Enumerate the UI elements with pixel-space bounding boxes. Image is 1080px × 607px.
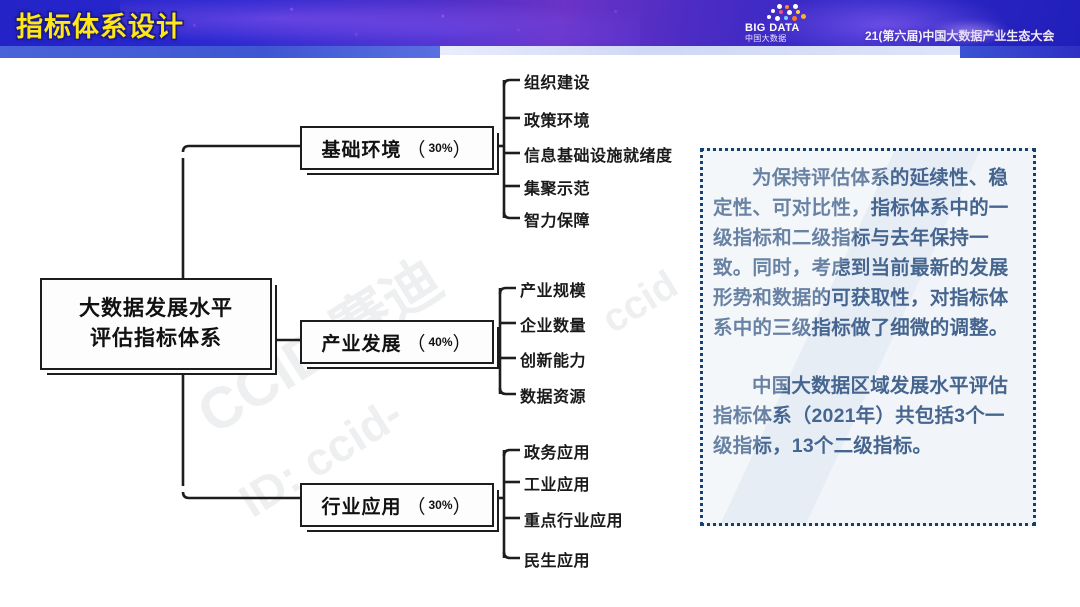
- leaf-item[interactable]: 组织建设: [524, 69, 590, 93]
- leaf-item[interactable]: 工业应用: [524, 471, 590, 495]
- node-branch-weight-2: 40%: [428, 335, 452, 349]
- leaf-item[interactable]: 信息基础设施就绪度: [524, 142, 673, 166]
- leaf-item[interactable]: 政务应用: [524, 439, 590, 463]
- node-branch-weight-3: 30%: [428, 498, 452, 512]
- banner-underbar-right: [960, 46, 1080, 58]
- event-text-glare: [930, 20, 1010, 44]
- leaf-item[interactable]: 企业数量: [520, 312, 586, 336]
- node-branch-paren-close-2: ）: [453, 329, 473, 356]
- node-branch-label-3: 行业应用: [321, 492, 401, 519]
- leaf-item[interactable]: 产业规模: [520, 277, 586, 301]
- logo-subtitle: 中国大数据: [745, 35, 787, 43]
- node-root-line2: 评估指标体系: [90, 324, 222, 354]
- leaf-item[interactable]: 智力保障: [524, 207, 590, 231]
- node-branch-label-2: 产业发展: [321, 329, 401, 356]
- big-data-logo: BIG DATA 中国大数据: [745, 4, 813, 44]
- leaf-item[interactable]: 集聚示范: [524, 175, 590, 199]
- leaf-item[interactable]: 民生应用: [524, 547, 590, 571]
- node-branch-paren-open-1: （: [406, 135, 426, 162]
- node-branch-industry-application[interactable]: 行业应用 （30%）: [300, 483, 494, 527]
- leaf-item[interactable]: 数据资源: [520, 383, 586, 407]
- node-branch-label-1: 基础环境: [321, 135, 401, 162]
- banner-underbar-middle: [440, 46, 960, 55]
- leaf-item[interactable]: 创新能力: [520, 347, 586, 371]
- banner-sparkle-decoration: [120, 0, 640, 46]
- node-root[interactable]: 大数据发展水平 评估指标体系: [40, 278, 272, 370]
- indicator-tree-diagram: 大数据发展水平 评估指标体系 基础环境 （30%） 产业发展 （40%） 行业应…: [0, 58, 700, 607]
- banner-underbar-left: [0, 46, 440, 58]
- title-banner: 指标体系设计 BIG DATA 中国大数据 21(第六届)中国大数据产业生态大会: [0, 0, 1080, 46]
- leaf-item[interactable]: 重点行业应用: [524, 507, 623, 531]
- page-title: 指标体系设计: [16, 5, 184, 44]
- logo-name: BIG DATA: [745, 23, 800, 34]
- node-branch-paren-close-1: ）: [453, 135, 473, 162]
- logo-dots-icon: [757, 4, 811, 24]
- node-branch-paren-close-3: ）: [453, 492, 473, 519]
- explanation-panel: 为保持评估体系的延续性、稳定性、可对比性，指标体系中的一级指标和二级指标与去年保…: [700, 148, 1036, 526]
- node-branch-paren-open-2: （: [406, 329, 426, 356]
- leaf-item[interactable]: 政策环境: [524, 107, 590, 131]
- panel-paragraph-1: 为保持评估体系的延续性、稳定性、可对比性，指标体系中的一级指标和二级指标与去年保…: [713, 163, 1023, 343]
- node-branch-weight-1: 30%: [428, 141, 452, 155]
- node-branch-industry-development[interactable]: 产业发展 （40%）: [300, 320, 494, 364]
- node-branch-basic-environment[interactable]: 基础环境 （30%）: [300, 126, 494, 170]
- panel-paragraph-2: 中国大数据区域发展水平评估指标体系（2021年）共包括3个一级指标，13个二级指…: [713, 371, 1023, 461]
- node-root-line1: 大数据发展水平: [79, 294, 233, 324]
- slide: 指标体系设计 BIG DATA 中国大数据 21(第六届)中国大数据产业生态大会: [0, 0, 1080, 607]
- node-branch-paren-open-3: （: [406, 492, 426, 519]
